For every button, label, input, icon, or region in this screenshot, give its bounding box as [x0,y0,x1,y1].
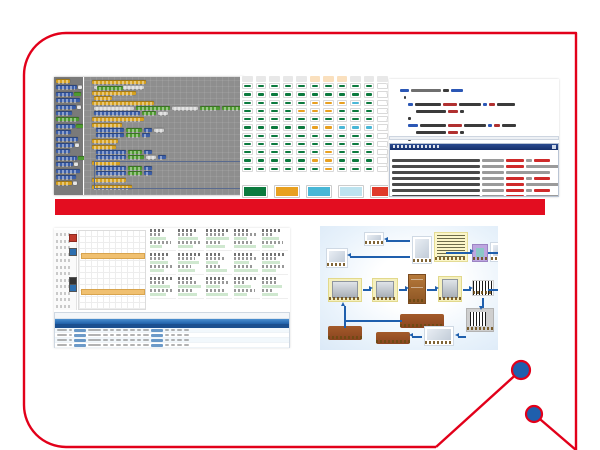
grid-cell[interactable] [350,141,361,147]
grid-cell[interactable] [296,108,307,114]
close-icon[interactable] [552,145,556,149]
table-cell [69,344,73,346]
grid-cell[interactable] [323,83,334,89]
grid-cell[interactable] [242,108,253,114]
code-block[interactable] [158,155,166,159]
code-block[interactable] [94,111,140,115]
grid-cell[interactable] [337,116,348,122]
spreadsheet-cell-group[interactable] [206,253,232,275]
spreadsheet-cell-group[interactable] [206,229,232,251]
code-horizontal-scrollbar[interactable] [389,136,559,140]
grid-cell-fill [258,93,265,95]
code-line [392,82,557,86]
cell-value [234,293,247,296]
table-cell [57,344,67,346]
table-cell [116,334,121,336]
block-socket[interactable] [77,105,81,109]
grid-cell[interactable] [296,83,307,89]
grid-cell[interactable] [269,149,280,155]
spreadsheet-screenshot[interactable] [54,228,290,348]
node-label [473,257,487,260]
grid-cell-fill [339,143,346,145]
shelf-line [411,279,423,280]
grid-cell[interactable] [310,157,321,163]
grid-cell[interactable] [323,133,334,139]
cell-value [262,261,280,264]
grid-cell[interactable] [323,108,334,114]
grid-cell[interactable] [364,108,375,114]
grid-cell[interactable] [269,166,280,172]
flow-node-sorting-shelf[interactable] [408,274,426,304]
code-block[interactable] [126,133,140,137]
spreadsheet-cell-group[interactable] [178,253,204,275]
label-line [437,241,465,245]
flow-arrow [350,256,410,258]
flow-node-putaway[interactable] [424,326,454,346]
grid-cell[interactable] [310,83,321,89]
code-text-area[interactable] [389,79,559,141]
grid-cell[interactable] [350,108,361,114]
table-cell [165,329,170,331]
grid-cell[interactable] [283,166,294,172]
grid-cell-fill [312,168,319,170]
grid-column-header [256,76,267,82]
grid-cell[interactable] [242,149,253,155]
grid-cell[interactable] [323,124,334,130]
grid-legend [242,185,388,194]
grid-cell-fill [285,102,292,104]
legend-reserved [306,185,332,198]
grid-cell[interactable] [337,124,348,130]
cell-title [262,229,281,232]
grid-cell[interactable] [242,83,253,89]
node-label [373,297,397,300]
grid-cell-fill [271,135,278,137]
cell-value [262,241,283,244]
grid-cell[interactable] [310,141,321,147]
console-log-row [390,164,558,168]
record-table[interactable] [54,312,290,348]
grid-cell-fill [244,110,251,112]
grid-cell[interactable] [283,108,294,114]
grid-cell[interactable] [310,100,321,106]
legend-swatch [372,187,388,196]
palette-block-10[interactable] [56,137,78,141]
code-block[interactable] [92,123,122,127]
grid-cell[interactable] [283,141,294,147]
grid-cell[interactable] [310,149,321,155]
palette-block-11[interactable] [56,143,74,147]
grid-cell[interactable] [310,91,321,97]
grid-cell[interactable] [337,157,348,163]
grid-cell[interactable] [364,124,375,130]
code-block[interactable] [128,155,144,159]
code-block[interactable] [92,101,154,105]
logistics-flowchart-screenshot[interactable] [320,226,498,350]
spreadsheet-upper-area[interactable] [54,228,290,312]
grid-cell[interactable] [256,157,267,163]
grid-cell[interactable] [337,141,348,147]
spreadsheet-cell-group[interactable] [234,229,260,251]
code-block[interactable] [154,128,164,132]
table-cell [151,339,162,342]
grid-cell[interactable] [296,116,307,122]
flow-node-scan-hand[interactable] [466,308,494,332]
grid-cell[interactable] [296,141,307,147]
grid-cell[interactable] [269,157,280,163]
grid-cell[interactable] [350,83,361,89]
block-socket[interactable] [74,162,78,166]
grid-cell[interactable] [323,91,334,97]
grid-cell-fill [285,110,292,112]
spreadsheet-column [150,229,176,310]
spreadsheet-cell-group[interactable] [150,229,176,251]
spreadsheet-cell-group[interactable] [234,277,260,299]
grid-cell[interactable] [242,124,253,130]
spreadsheet-cell-group[interactable] [178,229,204,251]
code-block[interactable] [94,106,134,110]
console-log-row [390,182,558,186]
grid-cell[interactable] [256,166,267,172]
grid-cell-fill [352,93,359,95]
table-cell [177,334,182,336]
grid-cell[interactable] [256,91,267,97]
spreadsheet-gantt-grid[interactable] [78,230,146,310]
block-socket-green[interactable] [74,92,81,96]
gantt-bar[interactable] [81,289,145,295]
grid-cell[interactable] [256,133,267,139]
code-block[interactable] [146,155,156,159]
block-selection-frame [94,161,241,189]
grid-cell[interactable] [310,166,321,172]
grid-cell-fill [366,118,373,120]
grid-cell[interactable] [364,149,375,155]
table-cell [130,329,135,331]
cell-value [178,281,197,284]
palette-block-13[interactable] [56,156,77,160]
grid-cell[interactable] [364,91,375,97]
grid-cells[interactable] [242,83,388,172]
code-line [392,117,557,121]
code-block[interactable] [96,155,126,159]
spreadsheet-cell-group[interactable] [234,253,260,275]
grid-cell-fill [352,168,359,170]
grid-cell-fill [325,135,332,137]
grid-cell[interactable] [269,91,280,97]
block-label [58,144,72,148]
flow-node-checklist[interactable] [434,232,468,262]
grid-cell[interactable] [283,133,294,139]
flow-node-inbound-truck[interactable] [328,278,362,302]
grid-cell[interactable] [296,124,307,130]
code-block[interactable] [92,91,136,95]
status-grid-screenshot[interactable] [240,76,388,198]
palette-block-1[interactable] [56,79,70,83]
grid-cell[interactable] [283,91,294,97]
grid-cell[interactable] [337,91,348,97]
grid-cell[interactable] [310,133,321,139]
grid-cell[interactable] [364,141,375,147]
flow-node-unloading[interactable] [372,278,398,302]
grid-cell[interactable] [296,157,307,163]
spreadsheet-cell-group[interactable] [206,277,232,299]
table-cell [137,329,142,331]
table-cell [116,344,121,346]
grid-cell[interactable] [242,141,253,147]
grid-cell[interactable] [337,133,348,139]
slide-stage: Software Project Showcase Collage [0,0,600,450]
palette-block-2[interactable] [56,85,77,89]
grid-cell[interactable] [323,166,334,172]
rail-row-label [56,305,72,308]
grid-cell[interactable] [242,91,253,97]
table-cell [165,334,170,336]
grid-cell-fill [339,118,346,120]
code-block[interactable] [144,150,152,154]
console-log-panel[interactable] [389,143,559,197]
cell-value [234,241,252,244]
grid-cell[interactable] [323,141,334,147]
palette-block-3[interactable] [56,92,73,96]
grid-cell[interactable] [310,116,321,122]
grid-cell[interactable] [337,166,348,172]
grid-cell-fill [339,85,346,87]
cell-title [178,277,194,280]
grid-cell-fill [244,135,251,137]
grid-cell[interactable] [350,166,361,172]
block-socket-green[interactable] [76,124,83,128]
cell-value [150,269,164,272]
grid-cell[interactable] [269,133,280,139]
grid-cell[interactable] [296,166,307,172]
grid-cell-fill [312,159,319,161]
grid-cell[interactable] [350,100,361,106]
grid-cell[interactable] [283,157,294,163]
code-block[interactable] [92,139,118,143]
code-line [392,124,557,128]
grid-cell[interactable] [323,100,334,106]
flow-node-inspection-station[interactable] [412,236,432,264]
legend-swatch [276,187,298,196]
node-pictogram [332,281,358,298]
node-label [467,327,493,330]
table-cell [137,339,142,341]
grid-cell[interactable] [350,91,361,97]
grid-cell[interactable] [256,108,267,114]
grid-cell[interactable] [269,83,280,89]
flow-node-delivery-note[interactable] [364,232,384,246]
grid-cell-fill [312,135,319,137]
grid-cell-fill [244,118,251,120]
flow-node-archive[interactable] [472,244,488,262]
spreadsheet-cell-group[interactable] [262,277,288,299]
palette-block-8[interactable] [56,124,75,128]
row-marker[interactable] [69,248,77,256]
table-cell [74,339,85,342]
grid-cell[interactable] [256,141,267,147]
table-cell [184,339,189,341]
code-block[interactable] [158,111,168,115]
code-block[interactable] [92,117,144,121]
table-cell [171,334,175,336]
grid-cell[interactable] [337,108,348,114]
grid-cell[interactable] [296,133,307,139]
grid-column-header [242,76,253,82]
grid-cell[interactable] [337,100,348,106]
code-block[interactable] [142,133,150,137]
grid-cell-fill [366,143,373,145]
arrow-head-icon [469,286,473,290]
grid-cell[interactable] [296,91,307,97]
palette-block-14[interactable] [56,162,73,166]
grid-cell[interactable] [269,100,280,106]
code-block[interactable] [96,128,124,132]
grid-cell[interactable] [283,83,294,89]
grid-cell[interactable] [310,108,321,114]
flow-node-inbound-complete[interactable] [376,332,410,344]
legend-available [242,185,268,198]
grid-cell-fill [366,110,373,112]
palette-block-7[interactable] [56,117,79,121]
spreadsheet-column [178,229,204,310]
grid-cell-fill [325,102,332,104]
flow-node-supplier-desk[interactable] [326,248,348,268]
grid-cell[interactable] [350,149,361,155]
blocks-palette[interactable] [54,77,84,195]
grid-cell[interactable] [364,83,375,89]
grid-cell[interactable] [350,124,361,130]
grid-cell[interactable] [269,141,280,147]
grid-cell[interactable] [364,116,375,122]
grid-cell[interactable] [256,124,267,130]
table-cell [123,334,128,336]
grid-cell[interactable] [364,166,375,172]
code-block[interactable] [94,96,112,100]
grid-cell-fill [325,159,332,161]
grid-cell[interactable] [323,116,334,122]
spreadsheet-cell-group[interactable] [178,277,204,299]
block-socket[interactable] [73,181,77,185]
grid-cell[interactable] [364,157,375,163]
grid-cell[interactable] [323,149,334,155]
code-block[interactable] [92,145,116,149]
spreadsheet-cell-group[interactable] [150,277,176,299]
grid-cell[interactable] [269,108,280,114]
grid-cell[interactable] [256,100,267,106]
table-body [55,328,289,348]
grid-cell[interactable] [269,116,280,122]
code-block[interactable] [172,106,198,110]
grid-cell[interactable] [269,124,280,130]
spreadsheet-cell-group[interactable] [262,253,288,275]
grid-cell[interactable] [242,157,253,163]
grid-cell[interactable] [242,100,253,106]
grid-cell[interactable] [283,124,294,130]
palette-block-16[interactable] [56,175,76,179]
palette-block-9[interactable] [56,130,71,134]
grid-cell[interactable] [350,157,361,163]
grid-cell[interactable] [337,83,348,89]
node-pictogram [427,329,451,340]
grid-cell[interactable] [256,116,267,122]
cell-title [150,277,172,280]
block-label [160,156,164,160]
console-log-row [390,170,558,174]
grid-cell[interactable] [242,116,253,122]
grid-cell[interactable] [242,133,253,139]
block-socket[interactable] [78,85,82,89]
flow-node-nonconforming-store[interactable] [328,326,362,340]
grid-cell[interactable] [323,157,334,163]
grid-cell[interactable] [364,100,375,106]
grid-cell-fill [312,151,319,153]
grid-cell[interactable] [296,149,307,155]
grid-cell-fill [366,93,373,95]
grid-cell[interactable] [310,124,321,130]
block-socket[interactable] [75,143,79,147]
grid-cell[interactable] [242,166,253,172]
grid-cell[interactable] [350,116,361,122]
palette-block-17[interactable] [56,181,72,185]
gantt-bar[interactable] [81,253,145,259]
code-block[interactable] [92,80,146,84]
grid-cell[interactable] [283,116,294,122]
grid-cell[interactable] [283,149,294,155]
code-editor-screenshot[interactable] [389,79,559,197]
code-block[interactable] [142,111,156,115]
code-block[interactable] [126,128,142,132]
flow-arrow [386,240,410,242]
grid-cell[interactable] [256,149,267,155]
cell-value [206,285,220,288]
cell-value [150,241,171,244]
spreadsheet-cell-group[interactable] [262,229,288,251]
palette-block-5[interactable] [56,105,76,109]
spreadsheet-cell-group[interactable] [150,253,176,275]
cell-title [178,229,197,232]
blocks-canvas[interactable] [84,77,244,195]
palette-block-6[interactable] [56,111,72,115]
code-block[interactable] [97,86,123,90]
code-block[interactable] [200,106,220,110]
rail-row-label [56,298,72,301]
cell-value [234,257,258,260]
code-block[interactable] [96,150,126,154]
code-block[interactable] [144,128,152,132]
table-cell [110,329,115,331]
code-block[interactable] [96,133,124,137]
grid-cell[interactable] [337,149,348,155]
code-block[interactable] [128,150,142,154]
flow-node-barcode-label[interactable] [472,280,494,296]
grid-cell[interactable] [283,100,294,106]
blocks-editor-screenshot[interactable] [54,77,244,195]
grid-cell[interactable] [350,133,361,139]
code-block[interactable] [136,106,170,110]
grid-cell[interactable] [364,133,375,139]
row-marker[interactable] [69,284,77,292]
table-cell [184,329,189,331]
grid-cell-fill [366,151,373,153]
grid-cell[interactable] [256,83,267,89]
palette-block-4[interactable] [56,98,80,102]
cell-value [234,261,249,264]
table-cell [137,334,142,336]
palette-block-15[interactable] [56,169,80,173]
grid-cell[interactable] [296,100,307,106]
palette-block-12[interactable] [56,149,70,153]
flow-node-quality-check[interactable] [438,276,462,302]
